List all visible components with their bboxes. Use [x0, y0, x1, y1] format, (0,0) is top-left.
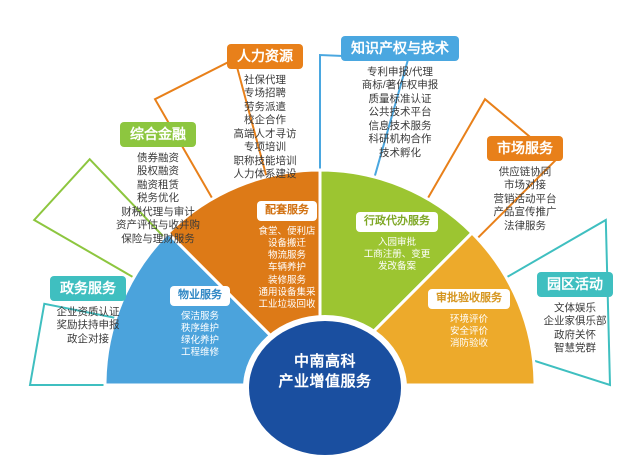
- outer-title-comprehensive-finance[interactable]: 综合金融: [120, 122, 196, 147]
- list-item: 设备搬迁: [232, 238, 342, 250]
- list-item: 发改备案: [338, 261, 456, 273]
- list-item: 入园审批: [338, 237, 456, 249]
- inner-block-approval-acceptance-services: 审批验收服务 环境评价 安全评价 消防验收: [410, 288, 528, 350]
- outer-title-human-resources[interactable]: 人力资源: [227, 44, 303, 69]
- inner-items-approval-acceptance-services: 环境评价 安全评价 消防验收: [410, 314, 528, 350]
- inner-items-administrative-agency-services: 入园审批 工商注册、变更 发改备案: [338, 237, 456, 273]
- list-item: 保险与理财服务: [88, 233, 228, 246]
- outer-items-intellectual-property-technology: 专利申报/代理 商标/著作权申报 质量标准认证 公共技术平台 信息技术服务 科研…: [325, 66, 475, 160]
- outer-title-intellectual-property-technology[interactable]: 知识产权与技术: [341, 36, 459, 61]
- list-item: 财税代理与审计: [88, 206, 228, 219]
- list-item: 市场对接: [455, 179, 595, 192]
- list-item: 绿化养护: [145, 335, 255, 347]
- list-item: 通用设备集采: [232, 287, 342, 299]
- list-item: 劳务派遣: [195, 101, 335, 114]
- list-item: 秩序维护: [145, 323, 255, 335]
- list-item: 专利申报/代理: [325, 66, 475, 79]
- list-item: 法律服务: [455, 220, 595, 233]
- inner-block-supporting-services: 配套服务 食堂、便利店 设备搬迁 物流服务 车辆养护 装修服务 通用设备集采 工…: [232, 200, 342, 311]
- list-item: 技术孵化: [325, 147, 475, 160]
- list-item: 校企合作: [195, 114, 335, 127]
- outer-title-park-activities[interactable]: 园区活动: [537, 272, 613, 297]
- list-item: 供应链协同: [455, 166, 595, 179]
- list-item: 消防验收: [410, 338, 528, 350]
- list-item: 装修服务: [232, 275, 342, 287]
- outer-title-government-services[interactable]: 政务服务: [50, 276, 126, 301]
- outer-block-human-resources: 人力资源 社保代理 专场招聘 劳务派遣 校企合作 高端人才寻访 专项培训 职称技…: [195, 44, 335, 182]
- list-item: 政企对接: [18, 333, 158, 346]
- list-item: 高端人才寻访: [195, 128, 335, 141]
- list-item: 公共技术平台: [325, 106, 475, 119]
- list-item: 专项培训: [195, 141, 335, 154]
- inner-block-administrative-agency-services: 行政代办服务 入园审批 工商注册、变更 发改备案: [338, 211, 456, 273]
- list-item: 人力体系建设: [195, 168, 335, 181]
- outer-items-human-resources: 社保代理 专场招聘 劳务派遣 校企合作 高端人才寻访 专项培训 职称技能培训 人…: [195, 74, 335, 182]
- list-item: 资产评估与收并购: [88, 219, 228, 232]
- list-item: 奖励扶持申报: [18, 319, 158, 332]
- list-item: 税务优化: [88, 192, 228, 205]
- inner-title-property-services[interactable]: 物业服务: [170, 286, 230, 306]
- inner-title-supporting-services[interactable]: 配套服务: [257, 201, 317, 221]
- list-item: 工程维修: [145, 347, 255, 359]
- list-item: 营销活动平台: [455, 193, 595, 206]
- list-item: 工商注册、变更: [338, 249, 456, 261]
- outer-block-intellectual-property-technology: 知识产权与技术 专利申报/代理 商标/著作权申报 质量标准认证 公共技术平台 信…: [325, 36, 475, 160]
- inner-items-property-services: 保洁服务 秩序维护 绿化养护 工程维修: [145, 311, 255, 360]
- outer-block-market-services: 市场服务 供应链协同 市场对接 营销活动平台 产品宣传推广 法律服务: [455, 136, 595, 233]
- list-item: 质量标准认证: [325, 93, 475, 106]
- list-item: 信息技术服务: [325, 120, 475, 133]
- core-circle[interactable]: [249, 321, 401, 455]
- outer-items-market-services: 供应链协同 市场对接 营销活动平台 产品宣传推广 法律服务: [455, 166, 595, 233]
- list-item: 专场招聘: [195, 87, 335, 100]
- inner-title-approval-acceptance-services[interactable]: 审批验收服务: [428, 289, 510, 309]
- list-item: 产品宣传推广: [455, 206, 595, 219]
- list-item: 商标/著作权申报: [325, 79, 475, 92]
- inner-title-administrative-agency-services[interactable]: 行政代办服务: [356, 212, 438, 232]
- outer-title-market-services[interactable]: 市场服务: [487, 136, 563, 161]
- list-item: 工业垃圾回收: [232, 299, 342, 311]
- infographic-canvas: 中南高科 产业增值服务 政务服务 企业资质认证 奖励扶持申报 政企对接 综合金融…: [0, 0, 640, 463]
- inner-items-supporting-services: 食堂、便利店 设备搬迁 物流服务 车辆养护 装修服务 通用设备集采 工业垃圾回收: [232, 226, 342, 311]
- list-item: 企业资质认证: [18, 306, 158, 319]
- list-item: 物流服务: [232, 250, 342, 262]
- list-item: 环境评价: [410, 314, 528, 326]
- list-item: 保洁服务: [145, 311, 255, 323]
- list-item: 社保代理: [195, 74, 335, 87]
- outer-items-government-services: 企业资质认证 奖励扶持申报 政企对接: [18, 306, 158, 346]
- outer-block-government-services: 政务服务 企业资质认证 奖励扶持申报 政企对接: [18, 276, 158, 346]
- list-item: 食堂、便利店: [232, 226, 342, 238]
- list-item: 安全评价: [410, 326, 528, 338]
- list-item: 职称技能培训: [195, 155, 335, 168]
- list-item: 科研机构合作: [325, 133, 475, 146]
- list-item: 车辆养护: [232, 262, 342, 274]
